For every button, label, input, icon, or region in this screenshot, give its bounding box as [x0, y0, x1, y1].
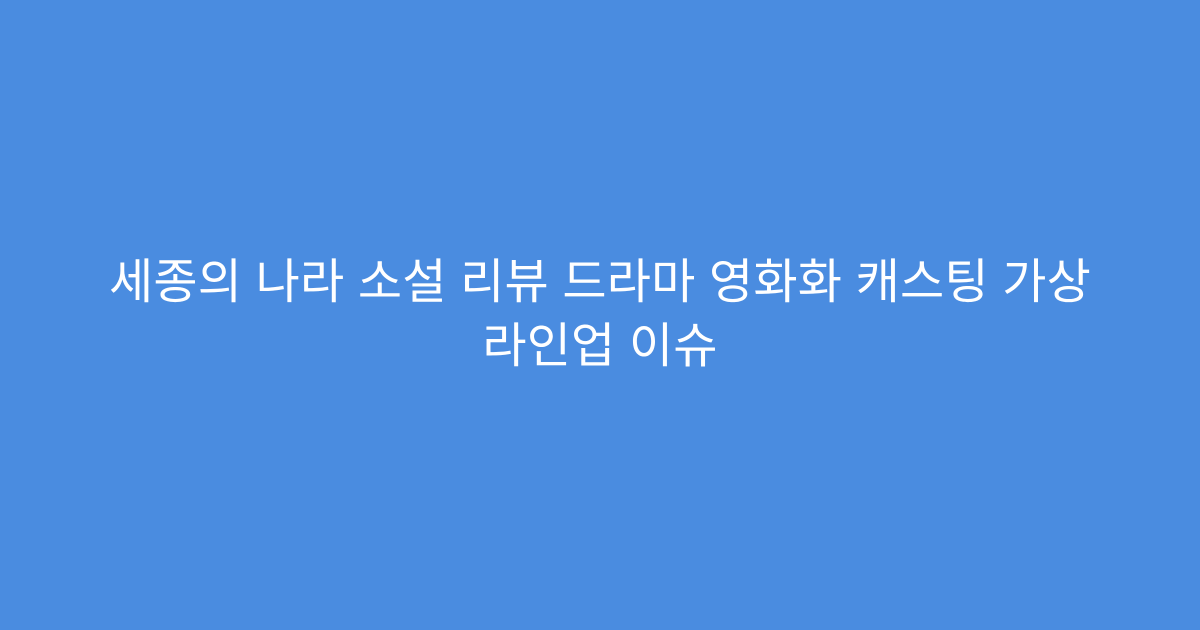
page-title: 세종의 나라 소설 리뷰 드라마 영화화 캐스팅 가상 라인업 이슈	[96, 251, 1104, 379]
title-block: 세종의 나라 소설 리뷰 드라마 영화화 캐스팅 가상 라인업 이슈	[60, 251, 1140, 379]
og-card-canvas: 세종의 나라 소설 리뷰 드라마 영화화 캐스팅 가상 라인업 이슈	[0, 0, 1200, 630]
